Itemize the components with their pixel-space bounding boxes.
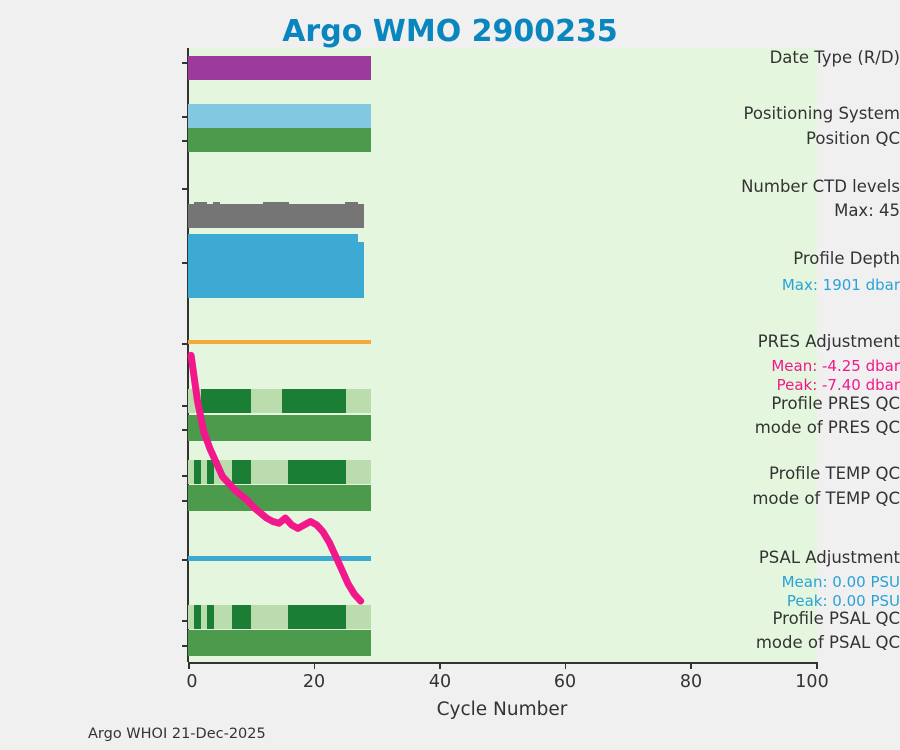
- xtick-0: [188, 662, 190, 669]
- xtick-40: [439, 662, 441, 669]
- xtick-label-20: 20: [303, 672, 325, 692]
- xtick-80: [690, 662, 692, 669]
- credit-text: Argo WHOI 21-Dec-2025: [88, 726, 266, 742]
- x-axis-ticks: 0 20 40 60 80 100: [0, 0, 900, 750]
- xtick-20: [314, 662, 316, 669]
- argo-summary-figure: Argo WMO 2900235 Date Type (R/D) Positio…: [0, 0, 900, 750]
- xtick-label-60: 60: [554, 672, 576, 692]
- xtick-100: [816, 662, 818, 669]
- xtick-label-0: 0: [186, 672, 197, 692]
- xtick-label-40: 40: [429, 672, 451, 692]
- x-axis-label: Cycle Number: [188, 699, 816, 720]
- xtick-60: [565, 662, 567, 669]
- xtick-label-100: 100: [795, 672, 828, 692]
- xtick-label-80: 80: [680, 672, 702, 692]
